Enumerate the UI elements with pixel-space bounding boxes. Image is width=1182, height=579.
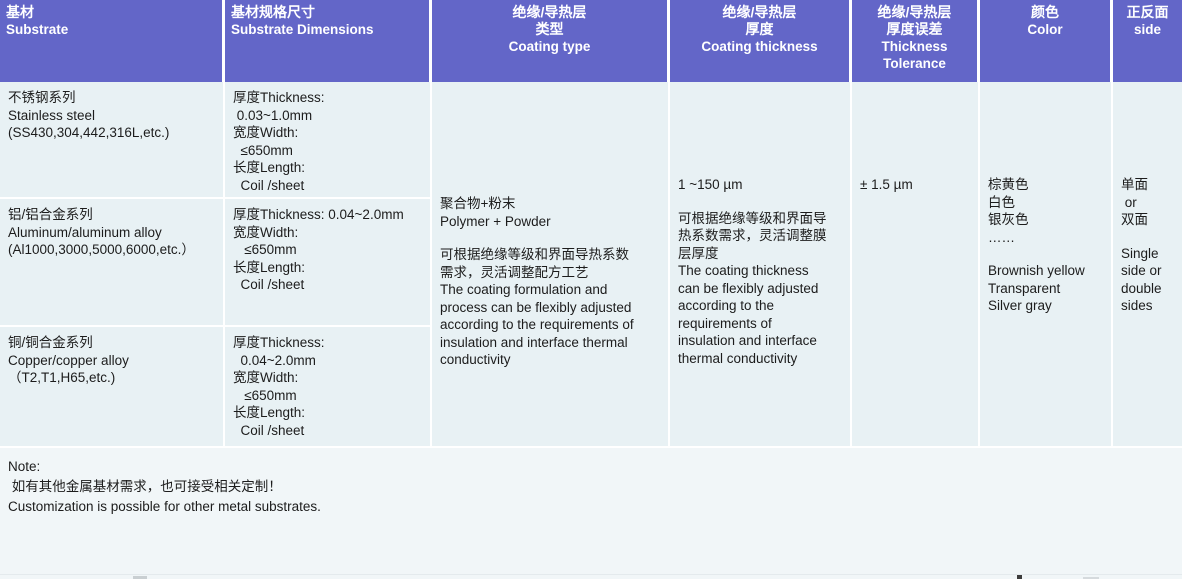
dimension-line: ≤650mm [233, 241, 422, 259]
dimension-line: 长度Length: [233, 259, 422, 277]
bottom-marker-square [1017, 575, 1022, 579]
column-color: 棕黄色 白色 银灰色 …… Brownish yellow Transparen… [980, 82, 1113, 446]
dimension-line: 0.04~2.0mm [233, 352, 422, 370]
column-header-coating-type: 绝缘/导热层 类型 Coating type [432, 0, 670, 82]
coating-thickness-line: insulation and interface [678, 332, 842, 350]
note-label: Note: [8, 457, 1174, 477]
column-header-substrate-dimensions: 基材规格尺寸 Substrate Dimensions [225, 0, 432, 82]
side-option-en: double [1121, 280, 1174, 298]
table-body: 不锈钢系列 Stainless steel (SS430,304,442,316… [0, 82, 1182, 446]
substrate-name-zh: 不锈钢系列 [8, 89, 215, 107]
column-header-coating-thickness: 绝缘/导热层 厚度 Coating thickness [670, 0, 852, 82]
color-option-en: Silver gray [988, 297, 1103, 315]
column-thickness-tolerance: ± 1.5 µm [852, 82, 980, 446]
coating-type-line: The coating formulation and [440, 281, 660, 299]
side-option-en: Single [1121, 245, 1174, 263]
color-option-zh: 银灰色 [988, 211, 1103, 229]
dimension-line: 宽度Width: [233, 224, 422, 242]
column-side: 单面 or 双面 Single side or double sides [1113, 82, 1182, 446]
substrate-name-zh: 铝/铝合金系列 [8, 206, 215, 224]
color-option-zh: 白色 [988, 194, 1103, 212]
column-header-thickness-tolerance-zh: 绝缘/导热层 [858, 4, 971, 21]
column-header-coating-type-en: Coating type [438, 38, 661, 55]
substrate-name-en: Copper/copper alloy [8, 352, 215, 370]
column-header-color-zh: 颜色 [986, 4, 1104, 21]
coating-thickness-line: 热系数需求，灵活调整膜 [678, 227, 842, 245]
color-option-en: Brownish yellow [988, 262, 1103, 280]
color-ellipsis: …… [988, 229, 1103, 247]
coating-type-line: process can be flexibly adjusted [440, 299, 660, 317]
column-substrate: 不锈钢系列 Stainless steel (SS430,304,442,316… [0, 82, 225, 446]
coating-type-cell: 聚合物+粉末 Polymer + Powder 可根据绝缘等级和界面导热系数 需… [432, 82, 668, 446]
column-header-thickness-tolerance-en: Thickness [858, 38, 971, 55]
coating-thickness-cell: 1 ~150 µm 可根据绝缘等级和界面导 热系数需求，灵活调整膜 层厚度 Th… [670, 82, 850, 446]
dimension-line: 长度Length: [233, 404, 422, 422]
table-note: Note: 如有其他金属基材需求，也可接受相关定制！ Customization… [0, 446, 1182, 579]
column-header-coating-thickness-zh2: 厚度 [676, 21, 843, 38]
substrate-grades: (SS430,304,442,316L,etc.) [8, 124, 215, 142]
column-header-side-zh: 正反面 [1119, 4, 1176, 21]
column-header-substrate-dimensions-en: Substrate Dimensions [231, 21, 423, 38]
dimension-line: 厚度Thickness: 0.04~2.0mm [233, 206, 422, 224]
table-row: 不锈钢系列 Stainless steel (SS430,304,442,316… [0, 82, 223, 199]
note-text-en: Customization is possible for other meta… [8, 497, 1174, 517]
side-option-en: side or [1121, 262, 1174, 280]
dimension-line: 长度Length: [233, 159, 422, 177]
side-conjunction: or [1121, 194, 1174, 212]
table-row: 铜/铜合金系列 Copper/copper alloy （T2,T1,H65,e… [0, 327, 223, 446]
column-header-coating-thickness-zh: 绝缘/导热层 [676, 4, 843, 21]
column-coating-type: 聚合物+粉末 Polymer + Powder 可根据绝缘等级和界面导热系数 需… [432, 82, 670, 446]
table-row: 铝/铝合金系列 Aluminum/aluminum alloy (Al1000,… [0, 199, 223, 327]
column-header-coating-thickness-en: Coating thickness [676, 38, 843, 55]
table-row: 厚度Thickness: 0.03~1.0mm 宽度Width: ≤650mm … [225, 82, 430, 199]
side-option-en: sides [1121, 297, 1174, 315]
column-header-side-en: side [1119, 21, 1176, 38]
color-option-zh: 棕黄色 [988, 176, 1103, 194]
coating-thickness-line: can be flexibly adjusted [678, 280, 842, 298]
dimension-line: 宽度Width: [233, 124, 422, 142]
substrate-name-en: Stainless steel [8, 107, 215, 125]
column-header-side: 正反面 side [1113, 0, 1182, 82]
coating-type-line: 可根据绝缘等级和界面导热系数 [440, 246, 660, 264]
dimension-line: 厚度Thickness: [233, 334, 422, 352]
dimension-line: 厚度Thickness: [233, 89, 422, 107]
coating-thickness-line: according to the [678, 297, 842, 315]
note-text-zh: 如有其他金属基材需求，也可接受相关定制！ [8, 477, 1174, 497]
dimension-line: 0.03~1.0mm [233, 107, 422, 125]
column-header-color-en: Color [986, 21, 1104, 38]
coating-type-line: insulation and interface thermal [440, 334, 660, 352]
column-header-thickness-tolerance-zh2: 厚度误差 [858, 21, 971, 38]
column-header-thickness-tolerance: 绝缘/导热层 厚度误差 Thickness Tolerance [852, 0, 980, 82]
dimension-line: Coil /sheet [233, 177, 422, 195]
coating-thickness-value: 1 ~150 µm [678, 176, 842, 194]
substrate-name-en: Aluminum/aluminum alloy [8, 224, 215, 242]
column-header-thickness-tolerance-en2: Tolerance [858, 55, 971, 72]
color-cell: 棕黄色 白色 银灰色 …… Brownish yellow Transparen… [980, 82, 1111, 446]
coating-type-line: 需求，灵活调整配方工艺 [440, 264, 660, 282]
coating-thickness-line: 层厚度 [678, 245, 842, 263]
table-row: 厚度Thickness: 0.04~2.0mm 宽度Width: ≤650mm … [225, 327, 430, 446]
coating-type-line: Polymer + Powder [440, 213, 660, 231]
side-option-zh: 单面 [1121, 176, 1174, 194]
dimension-line: ≤650mm [233, 387, 422, 405]
table-row: 厚度Thickness: 0.04~2.0mm 宽度Width: ≤650mm … [225, 199, 430, 327]
substrate-grades: （T2,T1,H65,etc.) [8, 369, 215, 387]
column-header-substrate-zh: 基材 [6, 4, 216, 21]
column-header-substrate-dimensions-zh: 基材规格尺寸 [231, 4, 423, 21]
spacer [988, 246, 1103, 262]
column-header-coating-type-zh2: 类型 [438, 21, 661, 38]
table-header-row: 基材 Substrate 基材规格尺寸 Substrate Dimensions… [0, 0, 1182, 82]
substrate-grades: (Al1000,3000,5000,6000,etc.） [8, 241, 215, 259]
column-coating-thickness: 1 ~150 µm 可根据绝缘等级和界面导 热系数需求，灵活调整膜 层厚度 Th… [670, 82, 852, 446]
coating-thickness-line: requirements of [678, 315, 842, 333]
coating-thickness-line: thermal conductivity [678, 350, 842, 368]
substrate-name-zh: 铜/铜合金系列 [8, 334, 215, 352]
column-header-substrate-en: Substrate [6, 21, 216, 38]
column-substrate-dimensions: 厚度Thickness: 0.03~1.0mm 宽度Width: ≤650mm … [225, 82, 432, 446]
dimension-line: Coil /sheet [233, 276, 422, 294]
dimension-line: ≤650mm [233, 142, 422, 160]
column-header-color: 颜色 Color [980, 0, 1113, 82]
column-header-substrate: 基材 Substrate [0, 0, 225, 82]
column-header-coating-type-zh: 绝缘/导热层 [438, 4, 661, 21]
thickness-tolerance-cell: ± 1.5 µm [852, 82, 978, 446]
side-cell: 单面 or 双面 Single side or double sides [1113, 82, 1182, 446]
spacer [440, 230, 660, 246]
spacer [678, 194, 842, 210]
thickness-tolerance-value: ± 1.5 µm [860, 176, 970, 194]
coating-thickness-line: 可根据绝缘等级和界面导 [678, 210, 842, 228]
spacer [1121, 229, 1174, 245]
coating-type-line: conductivity [440, 351, 660, 369]
dimension-line: Coil /sheet [233, 422, 422, 440]
dimension-line: 宽度Width: [233, 369, 422, 387]
coating-thickness-line: The coating thickness [678, 262, 842, 280]
substrate-specification-table: 基材 Substrate 基材规格尺寸 Substrate Dimensions… [0, 0, 1182, 579]
coating-type-line: 聚合物+粉末 [440, 195, 660, 213]
side-option-zh: 双面 [1121, 211, 1174, 229]
color-option-en: Transparent [988, 280, 1103, 298]
coating-type-line: according to the requirements of [440, 316, 660, 334]
bottom-edge-strip [0, 574, 1182, 579]
